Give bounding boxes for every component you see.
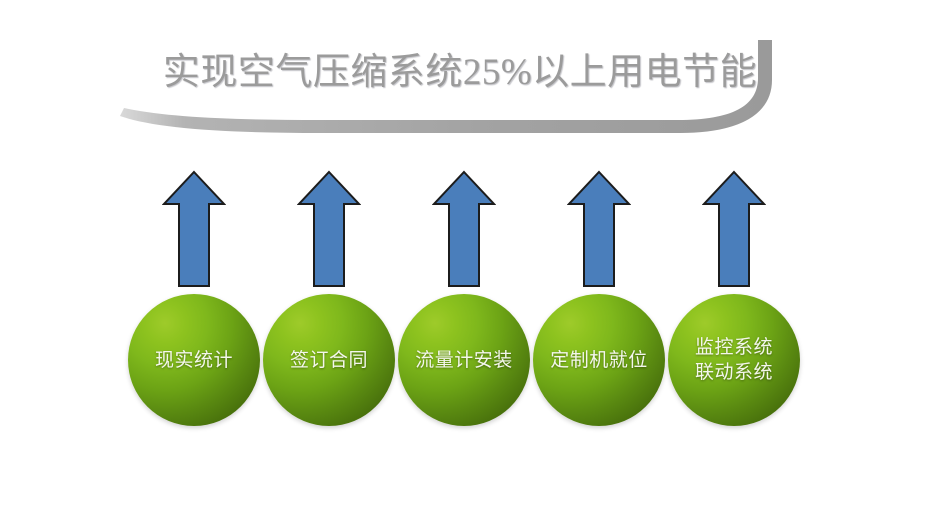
process-node-2[interactable]: 签订合同 — [263, 294, 395, 426]
process-node-3[interactable]: 流量计安装 — [398, 294, 530, 426]
up-arrow-icon-4 — [567, 170, 631, 288]
slide-canvas: 实现空气压缩系统25%以上用电节能 现实统计 签订合同 流量计安装 定制机就位 … — [0, 0, 945, 529]
arrow-shape — [569, 172, 629, 286]
process-node-1[interactable]: 现实统计 — [128, 294, 260, 426]
process-node-label: 现实统计 — [155, 348, 233, 373]
arrow-shape — [434, 172, 494, 286]
process-node-5[interactable]: 监控系统 联动系统 — [668, 294, 800, 426]
up-arrow-icon-3 — [432, 170, 496, 288]
process-node-label: 流量计安装 — [415, 348, 513, 373]
up-arrow-icon-5 — [702, 170, 766, 288]
arrow-shape — [164, 172, 224, 286]
process-node-label: 定制机就位 — [550, 348, 648, 373]
process-node-label: 签订合同 — [290, 348, 368, 373]
process-node-label: 监控系统 联动系统 — [695, 335, 773, 385]
process-node-4[interactable]: 定制机就位 — [533, 294, 665, 426]
arrow-shape — [299, 172, 359, 286]
up-arrow-icon-2 — [297, 170, 361, 288]
up-arrow-icon-1 — [162, 170, 226, 288]
title-banner: 实现空气压缩系统25%以上用电节能 — [120, 38, 800, 142]
page-title: 实现空气压缩系统25%以上用电节能 — [155, 44, 765, 104]
arrow-shape — [704, 172, 764, 286]
